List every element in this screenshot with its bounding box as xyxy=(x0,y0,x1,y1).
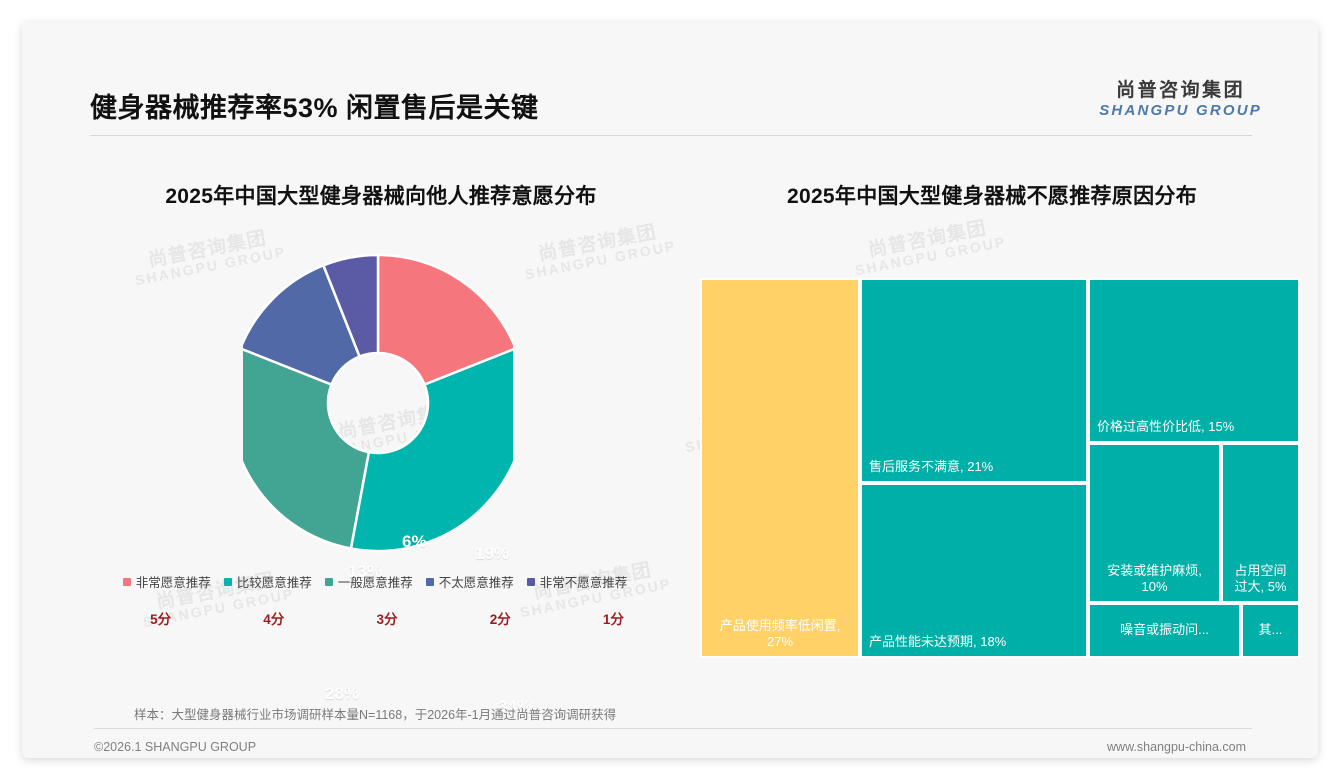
footer-divider xyxy=(94,728,1252,729)
logo-english: SHANGPU GROUP xyxy=(1099,102,1262,119)
legend-item-2[interactable]: 一般愿意推荐 xyxy=(325,572,413,591)
donut-svg xyxy=(243,238,513,568)
treemap-cell-7[interactable]: 其... xyxy=(1241,603,1300,658)
treemap-cell-2[interactable]: 产品性能未达预期, 18% xyxy=(860,483,1088,658)
treemap-cell-6[interactable]: 噪音或振动问... xyxy=(1088,603,1241,658)
donut-chart-title: 2025年中国大型健身器械向他人推荐意愿分布 xyxy=(92,180,670,210)
legend-label: 比较愿意推荐 xyxy=(237,572,312,591)
legend-swatch-icon xyxy=(325,578,333,586)
legend-swatch-icon xyxy=(123,578,131,586)
legend-swatch-icon xyxy=(224,578,232,586)
footer-copyright: ©2026.1 SHANGPU GROUP xyxy=(94,740,256,754)
treemap-chart: 产品使用频率低闲置, 27% 售后服务不满意, 21% 产品性能未达预期, 18… xyxy=(700,278,1300,658)
treemap-cell-label-3: 价格过高性价比低, 15% xyxy=(1090,419,1298,435)
sample-footnote: 样本：大型健身器械行业市场调研样本量N=1168，于2026年-1月通过尚普咨询… xyxy=(134,704,616,723)
legend-item-0[interactable]: 非常愿意推荐 xyxy=(123,572,211,591)
legend-label: 一般愿意推荐 xyxy=(338,572,413,591)
score-label-2: 2分 xyxy=(444,608,557,628)
treemap-cell-1[interactable]: 售后服务不满意, 21% xyxy=(860,278,1088,483)
donut-chart-panel: 2025年中国大型健身器械向他人推荐意愿分布 19% 34% 28 xyxy=(80,180,670,700)
footer-website[interactable]: www.shangpu-china.com xyxy=(1107,740,1246,754)
legend-item-4[interactable]: 非常不愿意推荐 xyxy=(527,572,628,591)
legend-swatch-icon xyxy=(527,578,535,586)
slide-header: 健身器械推荐率53% 闲置售后是关键 尚普咨询集团 SHANGPU GROUP xyxy=(22,22,1318,117)
score-label-5: 5分 xyxy=(104,608,217,628)
brand-logo: 尚普咨询集团 SHANGPU GROUP xyxy=(1099,80,1262,119)
score-label-4: 4分 xyxy=(217,608,330,628)
donut-value-5: 6% xyxy=(402,532,427,552)
legend-item-1[interactable]: 比较愿意推荐 xyxy=(224,572,312,591)
header-divider xyxy=(90,135,1252,136)
donut-slice-3[interactable] xyxy=(243,348,369,548)
treemap-cell-label-2: 产品性能未达预期, 18% xyxy=(862,634,1086,650)
logo-chinese: 尚普咨询集团 xyxy=(1099,80,1262,102)
treemap-cell-label-5: 占用空间过大, 5% xyxy=(1223,563,1298,595)
treemap-cell-label-0: 产品使用频率低闲置, 27% xyxy=(702,618,858,650)
donut-legend: 非常愿意推荐 比较愿意推荐 一般愿意推荐 不太愿意推荐 非常不愿意推荐 xyxy=(80,572,670,591)
score-axis: 5分 4分 3分 2分 1分 xyxy=(104,608,670,628)
treemap-cell-label-4: 安装或维护麻烦, 10% xyxy=(1090,563,1219,595)
treemap-cell-label-1: 售后服务不满意, 21% xyxy=(862,459,1086,475)
score-label-3: 3分 xyxy=(330,608,443,628)
treemap-cell-label-7: 其... xyxy=(1243,622,1298,638)
treemap-cell-3[interactable]: 价格过高性价比低, 15% xyxy=(1088,278,1300,443)
legend-swatch-icon xyxy=(426,578,434,586)
treemap-chart-panel: 2025年中国大型健身器械不愿推荐原因分布 产品使用频率低闲置, 27% 售后服… xyxy=(692,180,1292,700)
donut-value-1: 19% xyxy=(475,544,509,564)
score-label-1: 1分 xyxy=(557,608,670,628)
donut-value-3: 28% xyxy=(325,684,359,704)
treemap-cell-5[interactable]: 占用空间过大, 5% xyxy=(1221,443,1300,603)
treemap-cell-4[interactable]: 安装或维护麻烦, 10% xyxy=(1088,443,1221,603)
legend-label: 非常不愿意推荐 xyxy=(540,572,628,591)
slide: 尚普咨询集团SHANGPU GROUP 尚普咨询集团SHANGPU GROUP … xyxy=(22,22,1318,758)
legend-label: 非常愿意推荐 xyxy=(136,572,211,591)
treemap-cell-0[interactable]: 产品使用频率低闲置, 27% xyxy=(700,278,860,658)
treemap-cell-label-6: 噪音或振动问... xyxy=(1090,622,1239,638)
legend-item-3[interactable]: 不太愿意推荐 xyxy=(426,572,514,591)
page-title: 健身器械推荐率53% 闲置售后是关键 xyxy=(90,86,539,125)
donut-chart: 19% 34% 28% 13% 6% xyxy=(80,234,670,564)
treemap-chart-title: 2025年中国大型健身器械不愿推荐原因分布 xyxy=(692,180,1292,210)
legend-label: 不太愿意推荐 xyxy=(439,572,514,591)
